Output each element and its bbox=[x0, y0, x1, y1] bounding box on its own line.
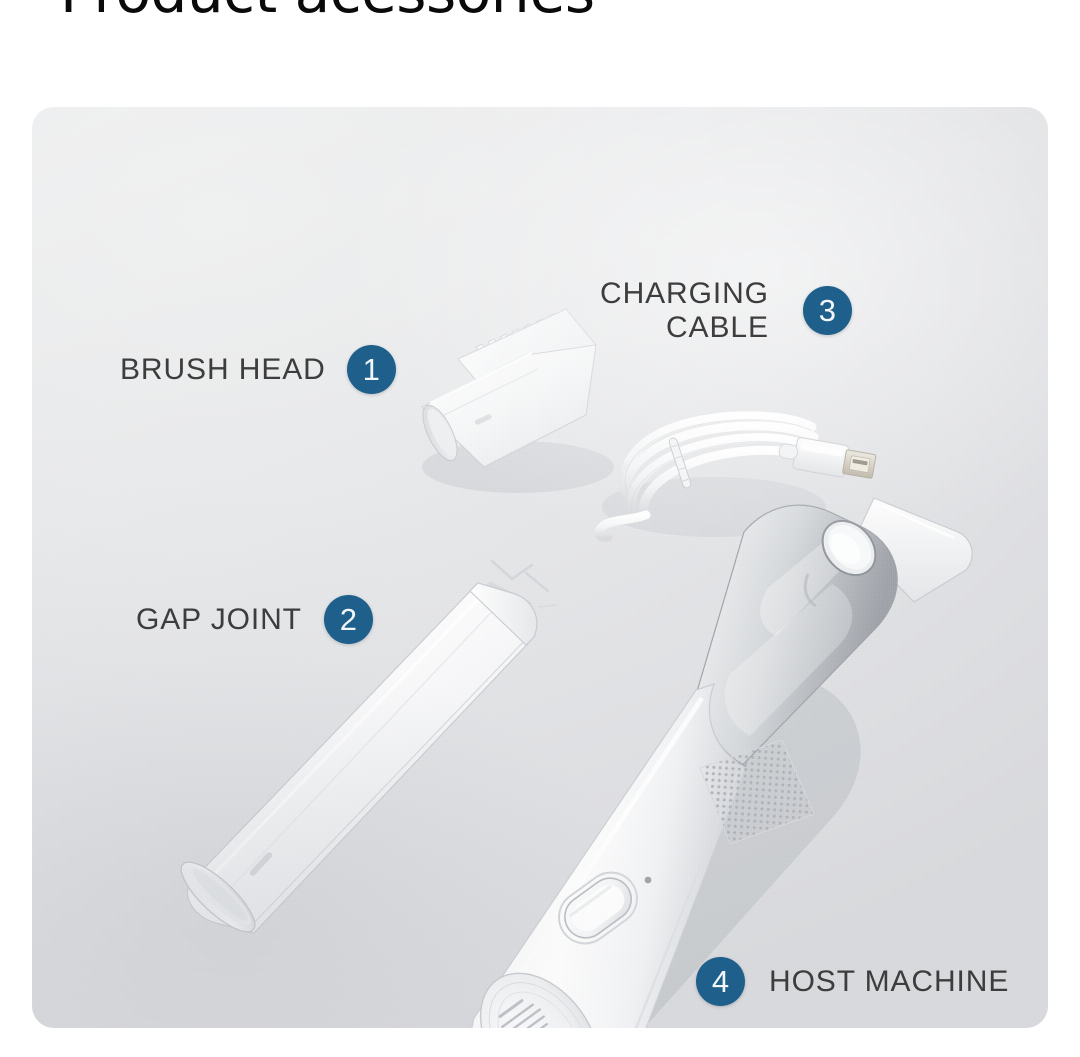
page-title-clip: Product acessories bbox=[0, 0, 1080, 30]
callout-label-brush-head: BRUSH HEAD bbox=[120, 353, 326, 387]
page-title: Product acessories bbox=[60, 0, 595, 26]
backdrop-grain bbox=[32, 107, 1048, 1028]
product-photo-card: BRUSH HEAD 1 CHARGING CABLE 3 GAP JOINT … bbox=[32, 107, 1048, 1028]
callout-badge-2: 2 bbox=[324, 595, 373, 644]
host-machine-image bbox=[362, 462, 1048, 1028]
callout-charging-cable: CHARGING CABLE 3 bbox=[600, 277, 852, 344]
callout-label-gap-joint: GAP JOINT bbox=[136, 603, 302, 637]
callout-host-machine: 4 HOST MACHINE bbox=[696, 957, 1009, 1006]
backdrop-sheen bbox=[32, 107, 1048, 1028]
callout-brush-head: BRUSH HEAD 1 bbox=[120, 345, 396, 394]
callout-badge-3: 3 bbox=[803, 286, 852, 335]
callout-badge-1: 1 bbox=[347, 345, 396, 394]
callout-badge-4: 4 bbox=[696, 957, 745, 1006]
callout-label-charging-cable: CHARGING CABLE bbox=[600, 277, 769, 344]
callout-gap-joint: GAP JOINT 2 bbox=[136, 595, 373, 644]
charging-cable-image bbox=[584, 379, 884, 549]
callout-label-host-machine: HOST MACHINE bbox=[769, 965, 1009, 999]
